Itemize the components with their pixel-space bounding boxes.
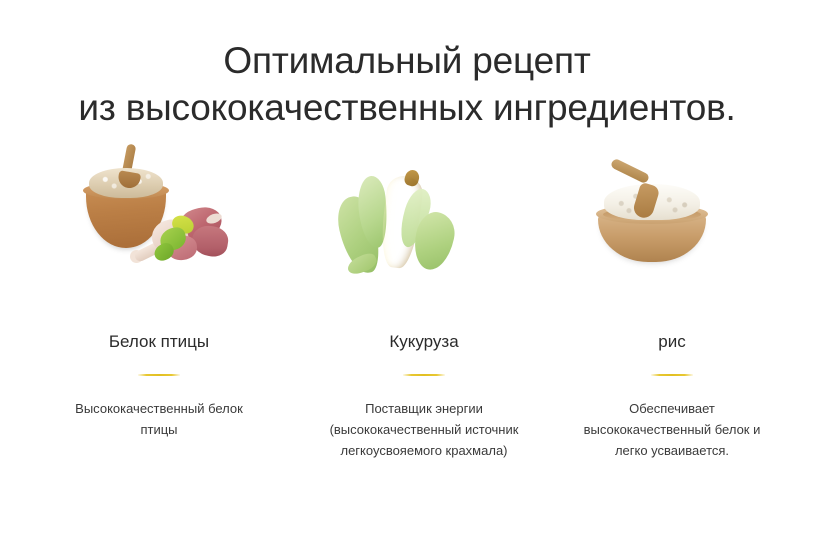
ingredient-columns: Белок птицы Высококачественный белок пти… bbox=[0, 160, 814, 462]
corn-image bbox=[329, 160, 519, 288]
ingredient-description: Высококачественный белок птицы bbox=[64, 398, 254, 440]
ingredient-description: Обеспечивает высококачественный белок и … bbox=[577, 398, 767, 461]
ingredient-title: Белок птицы bbox=[109, 332, 209, 352]
meat-piece-shape bbox=[190, 223, 230, 258]
rice-image bbox=[574, 160, 764, 288]
ingredient-title: Кукуруза bbox=[389, 332, 458, 352]
ingredients-section: Оптимальный рецепт из высококачественных… bbox=[0, 0, 814, 546]
ingredient-title: рис bbox=[658, 332, 685, 352]
ingredient-description: Поставщик энергии (высококачественный ис… bbox=[329, 398, 519, 461]
gold-divider bbox=[403, 374, 445, 376]
gold-divider bbox=[138, 374, 180, 376]
ingredient-card-corn: Кукуруза Поставщик энергии (высококачест… bbox=[318, 160, 530, 462]
page-title: Оптимальный рецепт из высококачественных… bbox=[0, 38, 814, 131]
gold-divider bbox=[651, 374, 693, 376]
scoop-handle-icon bbox=[610, 158, 650, 185]
ingredient-card-poultry: Белок птицы Высококачественный белок пти… bbox=[0, 160, 318, 440]
page-title-line-1: Оптимальный рецепт bbox=[0, 38, 814, 85]
page-title-line-2: из высококачественных ингредиентов. bbox=[0, 85, 814, 132]
ingredient-card-rice: рис Обеспечивает высококачественный бело… bbox=[530, 160, 814, 462]
poultry-protein-image bbox=[72, 160, 262, 288]
